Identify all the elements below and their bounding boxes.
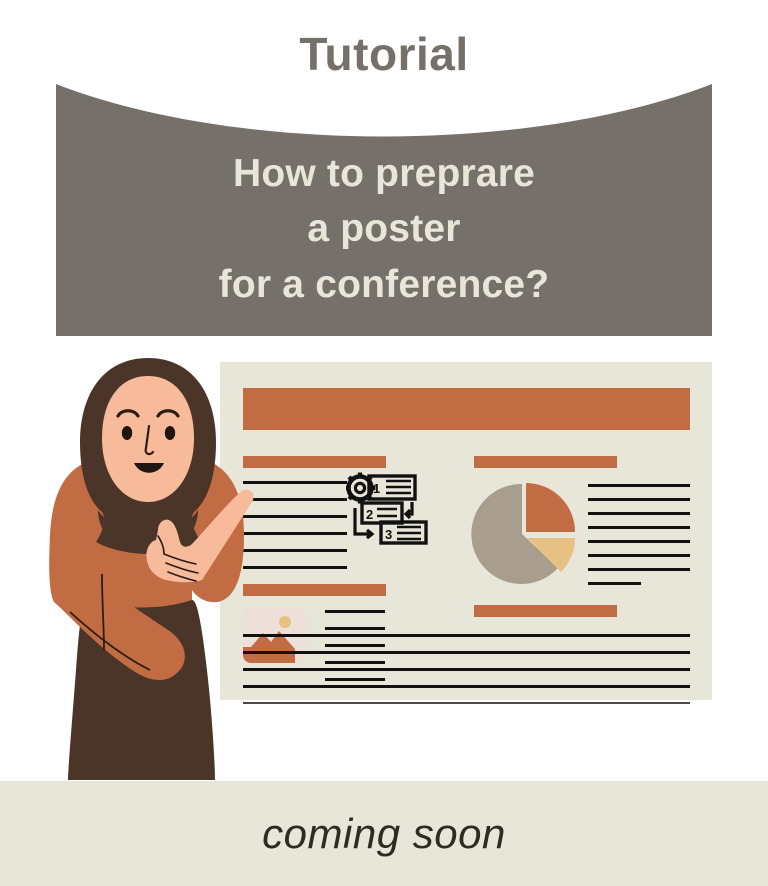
banner-line-2: a poster [56, 201, 712, 256]
workflow-step-2: 2 [366, 507, 373, 522]
text-line [588, 582, 641, 585]
banner-line-1: How to preprare [56, 146, 712, 201]
presenter-illustration [40, 350, 275, 790]
poster-right-heading-bar-2 [474, 605, 617, 617]
workflow-steps-icon: 1 2 3 [346, 472, 430, 546]
banner-line-3: for a conference? [56, 257, 712, 312]
pie-slice-b [526, 483, 575, 532]
text-line [588, 484, 690, 487]
eye-right [165, 426, 175, 440]
headline-banner: How to preprare a poster for a conferenc… [56, 84, 712, 336]
coming-soon-label: coming soon [0, 781, 768, 886]
poster-title-bar [243, 388, 690, 430]
text-line [243, 634, 690, 637]
poster-bottom-text-lines [243, 634, 690, 718]
text-line [243, 702, 690, 704]
workflow-step-1: 1 [373, 481, 380, 496]
sun-icon [279, 616, 291, 628]
text-line [588, 498, 690, 501]
text-line [588, 526, 690, 529]
workflow-step-3: 3 [385, 527, 392, 542]
text-line [588, 568, 690, 571]
banner-headline: How to preprare a poster for a conferenc… [56, 146, 712, 312]
text-line [588, 554, 690, 557]
pie-chart-svg [470, 480, 580, 590]
text-line [588, 512, 690, 515]
text-line [243, 685, 690, 688]
text-line [243, 668, 690, 671]
pie-chart [470, 480, 580, 590]
text-line [243, 651, 690, 654]
text-line [325, 610, 385, 613]
poster-board: 1 2 3 [220, 362, 712, 700]
text-line [325, 627, 385, 630]
poster-right-text-lines [588, 484, 690, 596]
text-line [588, 540, 690, 543]
poster-right-heading-bar [474, 456, 617, 468]
page-title: Tutorial [0, 31, 768, 77]
footer-band: coming soon [0, 781, 768, 886]
eye-left [122, 426, 132, 440]
